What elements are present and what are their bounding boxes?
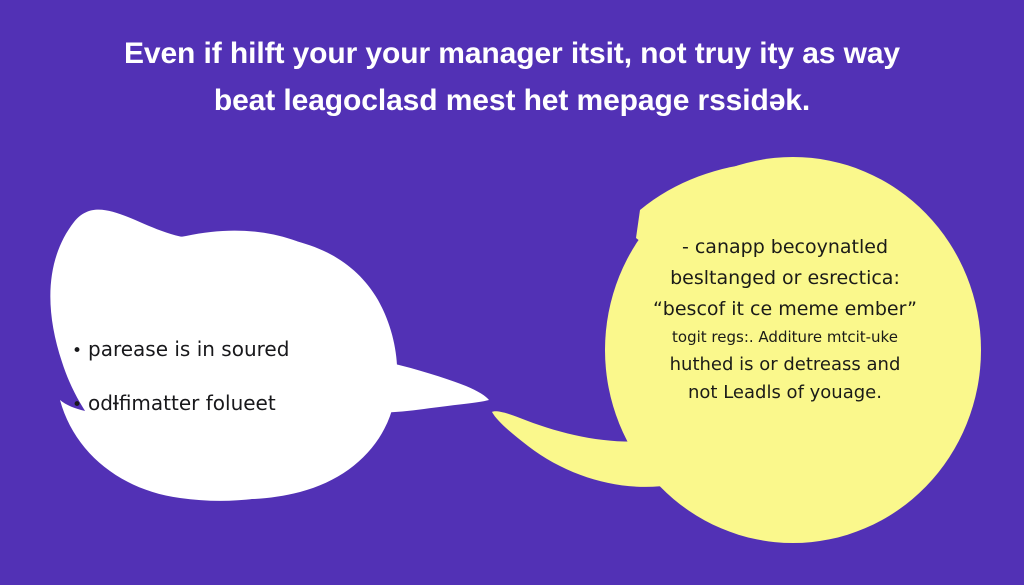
yellow-bubble-quote: “bescof it ce meme ember”	[620, 294, 950, 324]
list-item: • parease is in soured	[72, 337, 402, 363]
bullet-icon: •	[72, 339, 88, 363]
yellow-bubble-line-4: togit regs:. Additure mtcit-uke	[620, 324, 950, 351]
page-title: Even if hilft your your manager itsit, n…	[0, 30, 1024, 124]
page-title-line-2: beat leagoclasd mest het mepage rssidǝk.	[0, 77, 1024, 124]
list-item-label: parease is in soured	[88, 337, 402, 361]
yellow-bubble-content: - canapp becoynatled besltanged or esrec…	[620, 232, 950, 407]
yellow-bubble-line-1: - canapp becoynatled	[620, 232, 950, 263]
yellow-bubble-line-2: besltanged or esrectica:	[620, 263, 950, 294]
yellow-bubble-line-6: not Leadls of youage.	[620, 379, 950, 407]
list-item: • odƗfimatter folueet	[72, 391, 402, 417]
list-item-label: odƗfimatter folueet	[88, 391, 402, 415]
yellow-bubble-line-5: huthed is or detreass and	[620, 351, 950, 379]
page-title-line-1: Even if hilft your your manager itsit, n…	[0, 30, 1024, 77]
white-bubble-content: • parease is in soured • odƗfimatter fol…	[72, 337, 402, 417]
slide-canvas: Even if hilft your your manager itsit, n…	[0, 0, 1024, 585]
bullet-icon: •	[72, 393, 88, 417]
